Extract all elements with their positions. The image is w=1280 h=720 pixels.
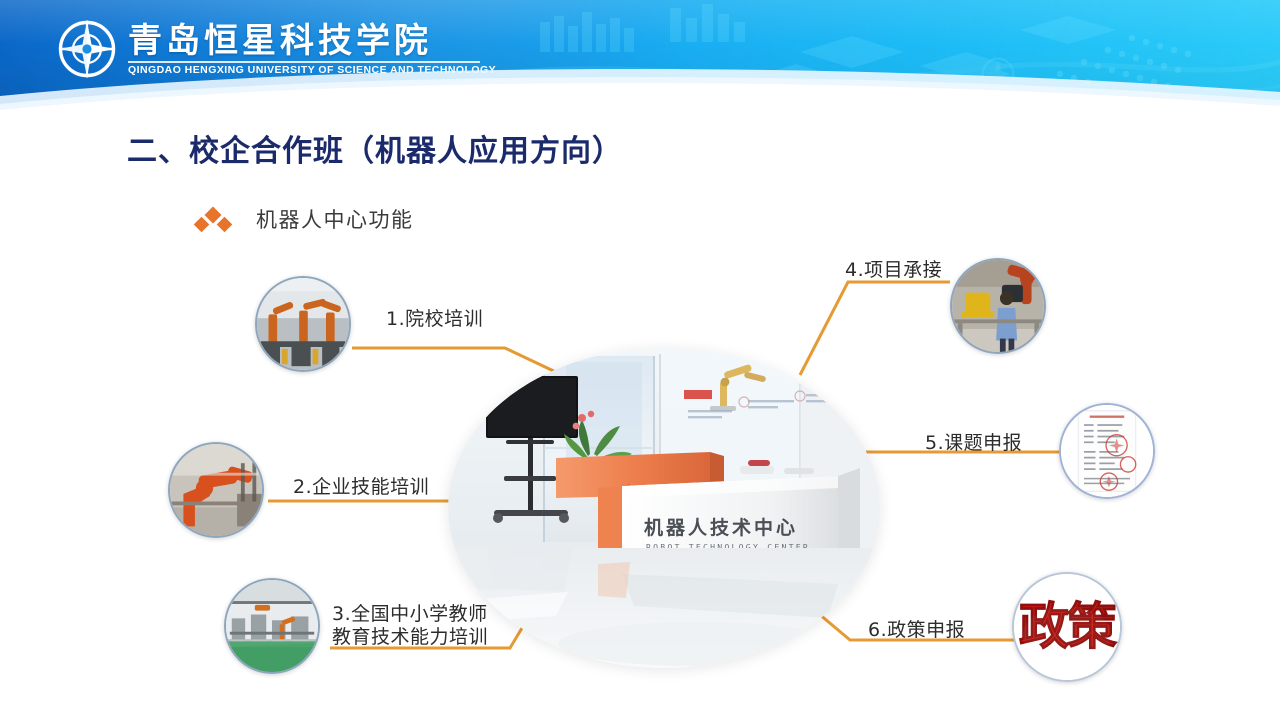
item-label-5: 5.课题申报: [925, 432, 1022, 454]
subhead-row: 机器人中心功能: [196, 204, 414, 234]
thumb-item-1: [255, 276, 351, 372]
robot-center-functions-diagram: 机器人技术中心 ROBOT TECHNOLOGY CENTER: [0, 240, 1280, 700]
orange-diamond-cluster-icon: [196, 206, 236, 232]
item-label-3-line1: 3.全国中小学教师: [332, 603, 522, 626]
header-swoosh-curve: [0, 58, 1280, 118]
page-title: 二、校企合作班（机器人应用方向）: [127, 126, 623, 170]
thumb-item-3: [224, 578, 320, 674]
thumb-item-4: [950, 258, 1046, 354]
slide-header-band: 青岛恒星科技学院 QINGDAO HENGXING UNIVERSITY OF …: [0, 0, 1280, 118]
thumb-item-6: 政策 政策: [1012, 572, 1122, 682]
item-label-4: 4.项目承接: [845, 259, 942, 281]
item-label-3-line2: 教育技术能力培训: [332, 626, 522, 649]
item-label-6: 6.政策申报: [868, 619, 965, 641]
item-label-1: 1.院校培训: [386, 308, 483, 330]
item-label-2: 2.企业技能培训: [293, 476, 429, 498]
logo-name-cn: 青岛恒星科技学院: [128, 23, 496, 59]
slide-root: 青岛恒星科技学院 QINGDAO HENGXING UNIVERSITY OF …: [0, 0, 1280, 720]
thumb-item-2: [168, 442, 264, 538]
desk-sign-cn: 机器人技术中心: [644, 516, 798, 539]
subhead-label: 机器人中心功能: [256, 204, 414, 234]
thumb-item-5: [1059, 403, 1155, 499]
item-label-3: 3.全国中小学教师 教育技术能力培训: [332, 603, 522, 649]
